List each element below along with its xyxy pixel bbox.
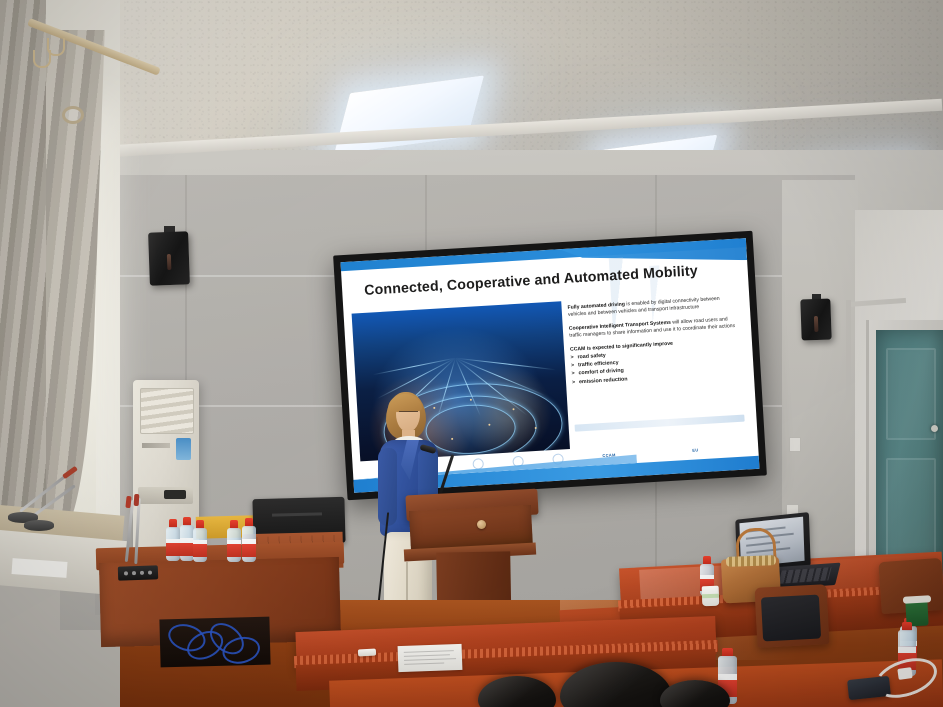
charger-plug (897, 667, 912, 680)
wall-conduit (846, 300, 851, 420)
desk-lamp-base-2 (24, 520, 54, 531)
curtain-hook-2 (33, 50, 51, 68)
handbag-chain (726, 555, 776, 567)
wall-speaker-right-icon (800, 298, 831, 340)
marker-pen[interactable] (358, 649, 376, 657)
wall-speaker-left-icon (148, 231, 190, 285)
paper-cup-band (702, 594, 719, 599)
water-bottle-5[interactable] (242, 518, 256, 562)
glasses-icon (399, 411, 418, 417)
slide-logo-right: EU (692, 447, 698, 452)
ac-vent-louvers (140, 388, 194, 434)
slide-logo-bar (575, 415, 745, 432)
water-bottle-3[interactable] (193, 520, 207, 562)
curtain-outer[interactable] (0, 0, 46, 520)
audio-mixer[interactable] (118, 565, 158, 580)
slide-paragraph-2: Cooperative Intelligent Transport System… (569, 315, 742, 340)
water-bottle-1[interactable] (166, 519, 180, 561)
slide-body-text: Fully automated driving is enabled by di… (567, 295, 744, 387)
av-desk-cable-compartment (159, 617, 270, 668)
conference-room-photo: Connected, Cooperative and Automated Mob… (0, 0, 943, 707)
green-cup-lid (903, 595, 931, 603)
water-bottle-4[interactable] (227, 520, 241, 562)
ac-brand-label (142, 443, 170, 448)
printed-sheet[interactable] (398, 644, 463, 672)
ac-display (164, 490, 186, 499)
wall-outlet-upper (789, 437, 801, 452)
desk-microphone-2-head (134, 494, 140, 506)
curtain-grommet (62, 106, 84, 124)
water-bottle-2[interactable] (180, 517, 194, 561)
podium-emblem (477, 520, 486, 529)
ac-energy-sticker (176, 438, 191, 460)
slide-decor-dot-1 (472, 458, 484, 470)
door-knob[interactable] (931, 425, 938, 432)
chair-right-1-cushion (761, 595, 821, 642)
